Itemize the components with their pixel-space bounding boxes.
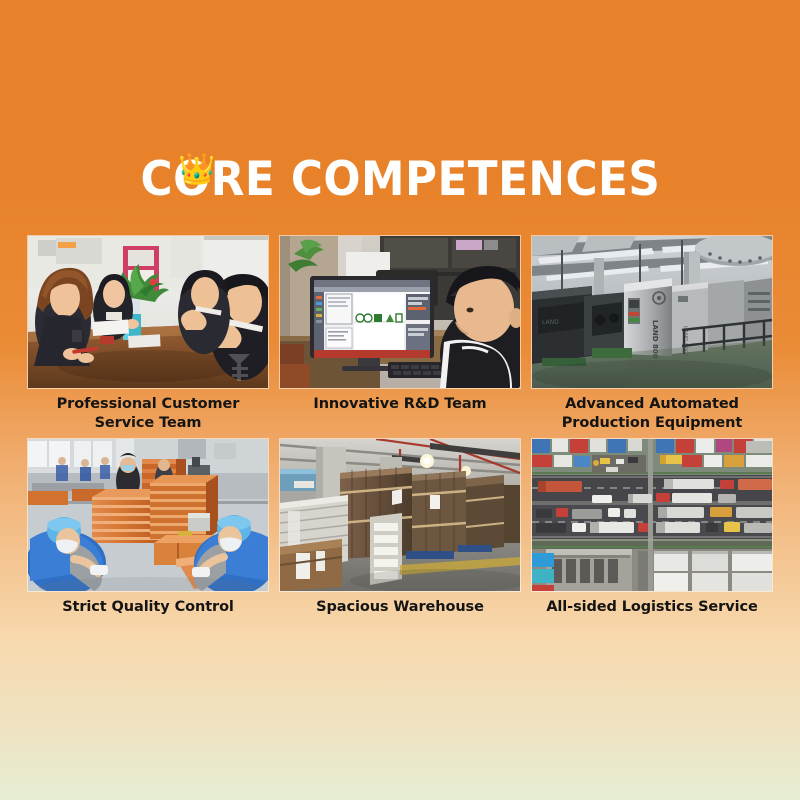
card-caption: Spacious Warehouse — [280, 598, 520, 617]
caption-line: All-sided Logistics Service — [532, 598, 772, 617]
caption-line: Professional Customer — [28, 395, 268, 414]
competence-card[interactable]: Spacious Warehouse — [280, 439, 520, 617]
photo-spacious-warehouse — [280, 439, 520, 591]
competence-card[interactable]: Professional Customer Service Team — [28, 236, 268, 433]
photo-strict-quality-control — [28, 439, 268, 591]
caption-line: Production Equipment — [532, 414, 772, 433]
photo-advanced-automated-production-equipment: LAND LAND 800 — [532, 236, 772, 388]
card-caption: Innovative R&D Team — [280, 395, 520, 414]
logistics-aerial-photo — [532, 439, 772, 591]
caption-line: Innovative R&D Team — [280, 395, 520, 414]
crown-icon: 👑 — [174, 152, 220, 188]
caption-line: Advanced Automated — [532, 395, 772, 414]
card-caption: Advanced Automated Production Equipment — [532, 395, 772, 433]
card-caption: Professional Customer Service Team — [28, 395, 268, 433]
competence-card[interactable]: LAND LAND 800 — [532, 236, 772, 433]
core-competences-banner: 👑 CORE COMPETENCES — [0, 0, 800, 800]
photo-all-sided-logistics-service — [532, 439, 772, 591]
meeting-room-photo — [28, 236, 268, 388]
photo-innovative-rd-team — [280, 236, 520, 388]
competence-card[interactable]: Strict Quality Control — [28, 439, 268, 617]
caption-line: Spacious Warehouse — [280, 598, 520, 617]
caption-line: Strict Quality Control — [28, 598, 268, 617]
title-block: 👑 CORE COMPETENCES — [0, 152, 800, 208]
rd-workstation-photo — [280, 236, 520, 388]
production-equipment-photo: LAND LAND 800 — [532, 236, 772, 388]
competence-card[interactable]: Innovative R&D Team — [280, 236, 520, 433]
warehouse-photo — [280, 439, 520, 591]
svg-text:LAND: LAND — [542, 319, 559, 326]
competence-card-grid: Professional Customer Service Team — [28, 236, 772, 617]
caption-line: Service Team — [28, 414, 268, 433]
card-caption: All-sided Logistics Service — [532, 598, 772, 617]
competence-card[interactable]: All-sided Logistics Service — [532, 439, 772, 617]
card-caption: Strict Quality Control — [28, 598, 268, 617]
photo-professional-customer-service-team — [28, 236, 268, 388]
quality-control-photo — [28, 439, 268, 591]
